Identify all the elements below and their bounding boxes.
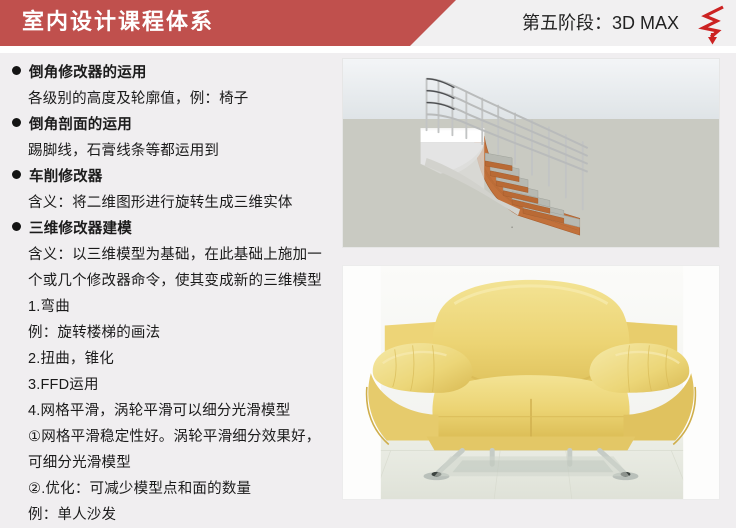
outline-line-text: 可细分光滑模型 xyxy=(28,455,131,471)
outline-line-text: 1.弯曲 xyxy=(28,299,70,315)
outline-line-text: 踢脚线，石膏线条等都运用到 xyxy=(28,143,219,159)
page-header: 室内设计课程体系 第五阶段：3D MAX xyxy=(0,0,736,46)
outline-line-text: 含义：将二维图形进行旋转生成三维实体 xyxy=(28,195,293,211)
outline-line-text: 倒角剖面的运用 xyxy=(29,117,132,133)
outline-line-text: 含义：以三维模型为基础，在此基础上施加一 xyxy=(28,247,322,263)
outline-line: 可细分光滑模型 xyxy=(0,450,335,476)
outline-line-text: ②.优化：可减少模型点和面的数量 xyxy=(28,481,251,497)
bullet-dot-icon xyxy=(12,66,21,75)
outline-line: 4.网格平滑，涡轮平滑可以细分光滑模型 xyxy=(0,398,335,424)
outline-line: 3.FFD运用 xyxy=(0,372,335,398)
curved-staircase-3d-render xyxy=(342,58,720,248)
outline-line: 含义：以三维模型为基础，在此基础上施加一 xyxy=(0,242,335,268)
course-outline-text: 倒角修改器的运用 各级别的高度及轮廓值，例：椅子 倒角剖面的运用 踢脚线，石膏线… xyxy=(0,60,335,515)
outline-line-text: 3.FFD运用 xyxy=(28,377,99,393)
outline-line: 个或几个修改器命令，使其变成新的三维模型 xyxy=(0,268,335,294)
outline-line-text: 三维修改器建模 xyxy=(29,221,132,237)
outline-line: ②.优化：可减少模型点和面的数量 xyxy=(0,476,335,502)
outline-line: 踢脚线，石膏线条等都运用到 xyxy=(0,138,335,164)
outline-line-text: 2.扭曲，锥化 xyxy=(28,351,114,367)
outline-bullet-line: 倒角修改器的运用 xyxy=(0,60,335,86)
outline-line-text: 例：旋转楼梯的画法 xyxy=(28,325,160,341)
stage-label: 第五阶段：3D MAX xyxy=(522,10,679,36)
bullet-dot-icon xyxy=(12,222,21,231)
yellow-leather-armchair-photo xyxy=(342,265,720,500)
outline-line-text: 车削修改器 xyxy=(29,169,103,185)
outline-line-text: 各级别的高度及轮廓值，例：椅子 xyxy=(28,91,249,107)
outline-line: 各级别的高度及轮廓值，例：椅子 xyxy=(0,86,335,112)
outline-bullet-line: 车削修改器 xyxy=(0,164,335,190)
outline-line: 1.弯曲 xyxy=(0,294,335,320)
outline-line: 含义：将二维图形进行旋转生成三维实体 xyxy=(0,190,335,216)
bullet-dot-icon xyxy=(12,170,21,179)
outline-line-text: 个或几个修改器命令，使其变成新的三维模型 xyxy=(28,273,322,289)
header-divider xyxy=(0,46,736,53)
outline-line: 例：单人沙发 xyxy=(0,502,335,528)
page-title: 室内设计课程体系 xyxy=(22,7,214,37)
lightning-arrow-icon xyxy=(697,3,727,45)
outline-line: ①网格平滑稳定性好。涡轮平滑细分效果好， xyxy=(0,424,335,450)
outline-line-text: ①网格平滑稳定性好。涡轮平滑细分效果好， xyxy=(28,429,321,445)
outline-line-text: 4.网格平滑，涡轮平滑可以细分光滑模型 xyxy=(28,403,290,419)
outline-bullet-line: 倒角剖面的运用 xyxy=(0,112,335,138)
bullet-dot-icon xyxy=(12,118,21,127)
outline-bullet-line: 三维修改器建模 xyxy=(0,216,335,242)
outline-line: 例：旋转楼梯的画法 xyxy=(0,320,335,346)
outline-line: 2.扭曲，锥化 xyxy=(0,346,335,372)
outline-line-text: 倒角修改器的运用 xyxy=(29,65,147,81)
outline-line-text: 例：单人沙发 xyxy=(28,507,116,523)
